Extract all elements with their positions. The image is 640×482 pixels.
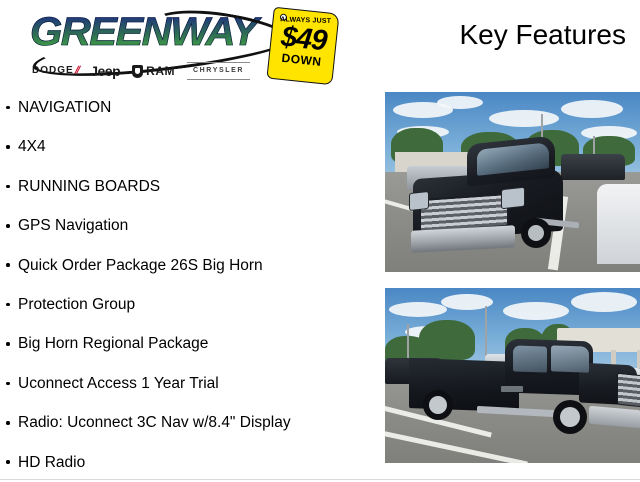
feature-label: HD Radio xyxy=(18,454,85,471)
bullet-icon xyxy=(6,106,10,110)
list-item: Big Horn Regional Package xyxy=(0,324,378,363)
feature-label: Uconnect Access 1 Year Trial xyxy=(18,375,219,392)
list-item: Protection Group xyxy=(0,285,378,324)
bullet-icon xyxy=(6,185,10,189)
cloud xyxy=(571,292,637,312)
list-item: Radio: Uconnect 3C Nav w/8.4" Display xyxy=(0,403,378,442)
cloud xyxy=(489,110,559,127)
truck-grille xyxy=(617,373,640,408)
truck-wheel-rear xyxy=(423,390,453,420)
front-door-window xyxy=(551,345,589,372)
page-title: Key Features xyxy=(266,18,626,52)
feature-label: NAVIGATION xyxy=(18,99,111,116)
rear-door-window xyxy=(513,345,547,372)
bullet-icon xyxy=(6,342,10,346)
bullet-icon xyxy=(6,263,10,267)
brand-logo-chrysler: CHRYSLER xyxy=(187,64,250,78)
ram-shield-icon xyxy=(132,65,143,78)
dealer-wordmark: GREENWAY xyxy=(30,6,290,58)
list-item: HD Radio xyxy=(0,443,378,482)
brand-logo-ram: RAM xyxy=(132,64,175,78)
background-car xyxy=(597,184,640,264)
feature-label: RUNNING BOARDS xyxy=(18,178,160,195)
cloud xyxy=(437,96,483,109)
truck-wheel-front xyxy=(553,400,587,434)
bullet-icon xyxy=(6,145,10,149)
key-features-list: NAVIGATION 4X4 RUNNING BOARDS GPS Naviga… xyxy=(0,88,378,482)
cloud xyxy=(503,302,569,320)
truck-wheel xyxy=(521,218,551,248)
list-item: Quick Order Package 26S Big Horn xyxy=(0,246,378,285)
bullet-icon xyxy=(6,382,10,386)
bullet-icon xyxy=(6,421,10,425)
list-item: RUNNING BOARDS xyxy=(0,167,378,206)
background-car xyxy=(561,154,625,180)
feature-label: Quick Order Package 26S Big Horn xyxy=(18,257,263,274)
headlight-right xyxy=(501,187,525,210)
feature-label: Radio: Uconnect 3C Nav w/8.4" Display xyxy=(18,414,291,431)
cloud xyxy=(561,100,623,118)
list-item: 4X4 xyxy=(0,127,378,166)
feature-label: GPS Navigation xyxy=(18,217,128,234)
feature-label: Protection Group xyxy=(18,296,135,313)
bullet-icon xyxy=(6,224,10,228)
list-item: Uconnect Access 1 Year Trial xyxy=(0,364,378,403)
feature-label: Big Horn Regional Package xyxy=(18,335,208,352)
truck-badge xyxy=(501,386,523,392)
brand-ram-label: RAM xyxy=(146,64,175,78)
headlight-left xyxy=(409,191,429,211)
vehicle-photo-side xyxy=(385,288,640,463)
bullet-icon xyxy=(6,460,10,464)
bullet-icon xyxy=(6,303,10,307)
cloud xyxy=(389,302,447,317)
feature-label: 4X4 xyxy=(18,138,46,155)
brand-dodge-label: DODGE xyxy=(32,65,74,76)
list-item: GPS Navigation xyxy=(0,206,378,245)
brand-logo-dodge: DODGE// xyxy=(32,64,78,78)
brand-logo-jeep: Jeep xyxy=(90,64,120,78)
slide-header: GREENWAY ALWAYS JUST $49 DOWN DODGE// Je… xyxy=(0,0,640,88)
list-item: NAVIGATION xyxy=(0,88,378,127)
vehicle-photo-front xyxy=(385,92,640,272)
dealer-wordmark-wrap: GREENWAY xyxy=(30,6,280,58)
brand-logo-strip: DODGE// Jeep RAM CHRYSLER xyxy=(32,62,302,80)
